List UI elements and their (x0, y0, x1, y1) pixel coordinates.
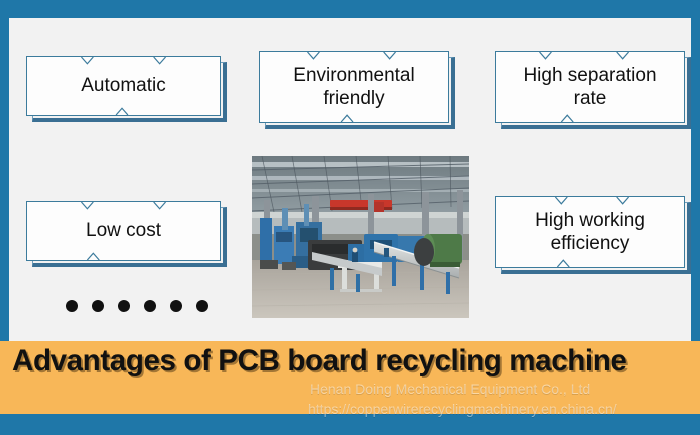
slide-frame: Automatic Environmental friendly (0, 0, 700, 435)
decorative-dots (66, 300, 208, 312)
title-banner: Advantages of PCB board recycling machin… (0, 341, 700, 414)
dot-icon (196, 300, 208, 312)
card-label: Automatic (73, 74, 173, 97)
feature-card-high-working-efficiency[interactable]: High working efficiency (495, 196, 685, 268)
card-label: Low cost (78, 219, 169, 242)
machine-photo-illustration (252, 156, 469, 318)
dot-icon (170, 300, 182, 312)
card-body: High working efficiency (495, 196, 685, 268)
card-body: Automatic (26, 56, 221, 116)
card-body: High separation rate (495, 51, 685, 123)
dot-icon (144, 300, 156, 312)
card-label: Environmental friendly (285, 64, 422, 110)
card-label: High separation rate (515, 64, 664, 110)
feature-card-environmental-friendly[interactable]: Environmental friendly (259, 51, 449, 123)
slide-content-area: Automatic Environmental friendly (9, 18, 691, 341)
card-body: Low cost (26, 201, 221, 261)
feature-card-low-cost[interactable]: Low cost (26, 201, 221, 261)
dot-icon (118, 300, 130, 312)
card-body: Environmental friendly (259, 51, 449, 123)
feature-card-high-separation-rate[interactable]: High separation rate (495, 51, 685, 123)
card-label: High working efficiency (527, 209, 653, 255)
machine-photo (252, 156, 469, 318)
dot-icon (92, 300, 104, 312)
feature-card-automatic[interactable]: Automatic (26, 56, 221, 116)
dot-icon (66, 300, 78, 312)
banner-title: Advantages of PCB board recycling machin… (12, 344, 626, 378)
